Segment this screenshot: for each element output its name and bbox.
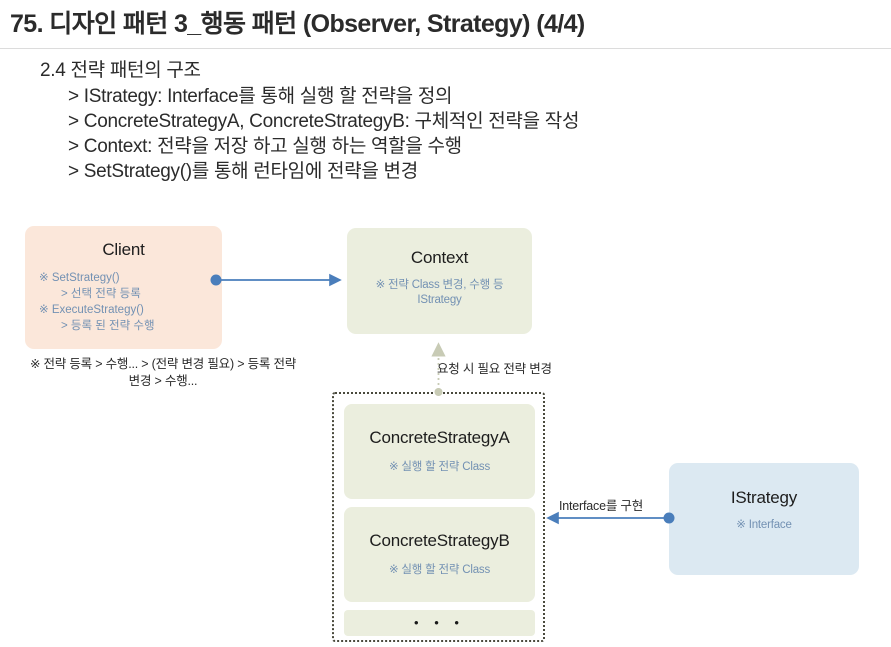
outline-block: 2.4 전략 패턴의 구조 > IStrategy: Interface를 통해… [40, 58, 820, 184]
diagram-node-concrete-strategy-a: ConcreteStrategyA ※ 실행 할 전략 Class [344, 404, 535, 499]
concrete-b-desc: ※ 실행 할 전략 Class [344, 563, 535, 578]
bullet-item-context: > Context: 전략을 저장 하고 실행 하는 역할을 수행 [68, 134, 820, 159]
diagram-node-concrete-strategy-b: ConcreteStrategyB ※ 실행 할 전략 Class [344, 507, 535, 602]
concrete-a-desc: ※ 실행 할 전략 Class [344, 460, 535, 475]
connector-client-to-context [211, 275, 341, 286]
istrategy-title: IStrategy [669, 488, 859, 508]
concrete-b-title: ConcreteStrategyB [344, 531, 535, 551]
client-line-register: > 선택 전략 등록 [39, 286, 222, 302]
context-desc-line2: IStrategy [347, 293, 532, 308]
page-title: 75. 디자인 패턴 3_행동 패턴 (Observer, Strategy) … [10, 4, 885, 40]
bullet-item-concrete: > ConcreteStrategyA, ConcreteStrategyB: … [68, 109, 820, 134]
title-divider [0, 48, 891, 49]
client-footnote: ※ 전략 등록 > 수행... > (전략 변경 필요) > 등록 전략 변경 … [28, 356, 298, 390]
concrete-a-title: ConcreteStrategyA [344, 428, 535, 448]
context-desc: ※ 전략 Class 변경, 수행 등 IStrategy [347, 278, 532, 308]
diagram-node-istrategy: IStrategy ※ Interface [669, 463, 859, 575]
section-heading: 2.4 전략 패턴의 구조 [40, 58, 820, 84]
client-line-setstrategy: ※ SetStrategy() [39, 270, 222, 286]
connector-label-interface-impl: Interface를 구현 [559, 495, 643, 514]
context-desc-line1: ※ 전략 Class 변경, 수행 등 [347, 278, 532, 293]
istrategy-desc: ※ Interface [669, 518, 859, 533]
diagram-node-context: Context ※ 전략 Class 변경, 수행 등 IStrategy [347, 228, 532, 334]
client-line-execute: > 등록 된 전략 수행 [39, 318, 222, 334]
connector-istrategy-to-strategies [548, 513, 675, 524]
concrete-strategy-group: ConcreteStrategyA ※ 실행 할 전략 Class Concre… [332, 392, 545, 642]
bullet-item-setstrategy: > SetStrategy()를 통해 런타임에 전략을 변경 [68, 159, 820, 184]
context-title: Context [347, 248, 532, 268]
client-title: Client [25, 240, 222, 260]
client-body: ※ SetStrategy() > 선택 전략 등록 ※ ExecuteStra… [25, 270, 222, 334]
connector-label-context-change: 요청 시 필요 전략 변경 [437, 358, 552, 377]
diagram-node-client: Client ※ SetStrategy() > 선택 전략 등록 ※ Exec… [25, 226, 222, 349]
client-line-executestrategy: ※ ExecuteStrategy() [39, 302, 222, 318]
bullet-item-istrategy: > IStrategy: Interface를 통해 실행 할 전략을 정의 [68, 84, 820, 109]
concrete-strategy-ellipsis: • • • [344, 610, 535, 636]
